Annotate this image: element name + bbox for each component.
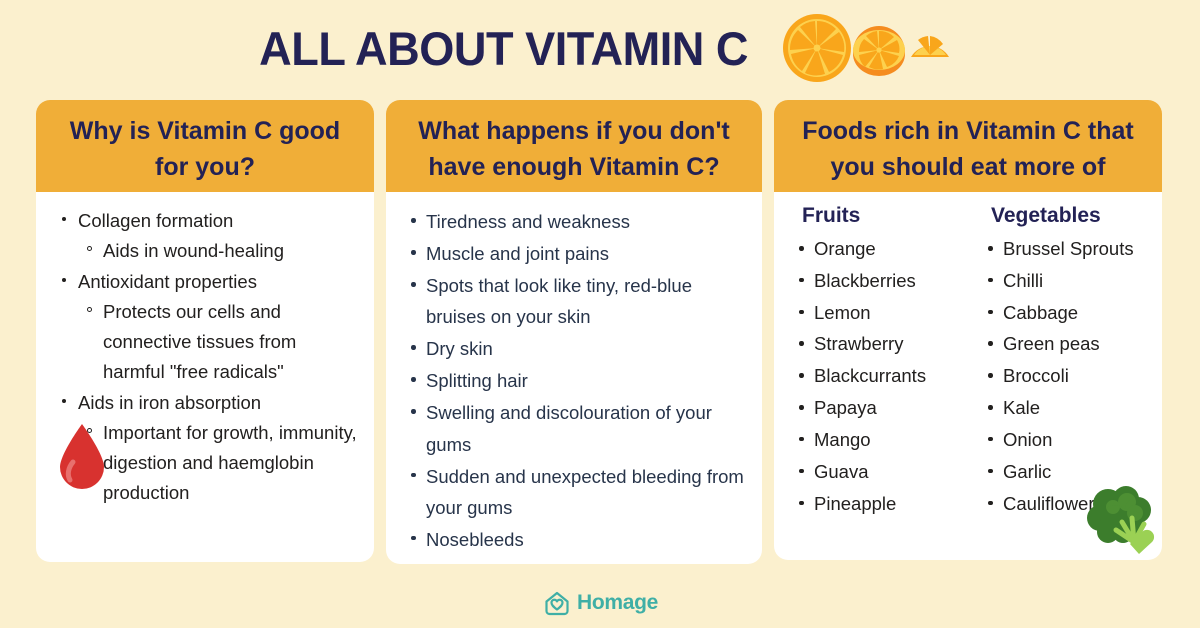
list-item-label: Mango [814, 429, 871, 450]
card-body-foods: Fruits Orange Blackberries Lemon Strawbe… [774, 192, 1162, 519]
list-item: Cabbage [981, 297, 1152, 329]
food-columns: Fruits Orange Blackberries Lemon Strawbe… [792, 204, 1152, 519]
list-item-label: Splitting hair [426, 370, 528, 391]
sub-list-item-label: Important for growth, immunity, digestio… [103, 422, 357, 503]
bullet-hollow-icon [87, 246, 92, 251]
list-item-label: Orange [814, 238, 876, 259]
list-item-label: Nosebleeds [426, 529, 524, 550]
footer-brand: Homage [0, 588, 1200, 618]
bullet-icon [799, 437, 804, 442]
vegetables-list: Brussel Sprouts Chilli Cabbage Green pea… [981, 233, 1152, 519]
sub-list-item: Aids in wound-healing [78, 236, 358, 266]
list-item-label: Muscle and joint pains [426, 243, 609, 264]
list-item-label: Blackberries [814, 270, 916, 291]
list-item-label: Cauliflower [1003, 493, 1095, 514]
bullet-icon [799, 405, 804, 410]
sub-list-item: Important for growth, immunity, digestio… [78, 418, 358, 508]
list-item: Lemon [792, 297, 963, 329]
bullet-icon [799, 278, 804, 283]
vegetables-heading: Vegetables [981, 204, 1152, 228]
list-item-label: Collagen formation [78, 210, 233, 231]
sub-list-item-label: Protects our cells and connective tissue… [103, 301, 296, 382]
list-item-label: Dry skin [426, 338, 493, 359]
list-item-label: Aids in iron absorption [78, 392, 261, 413]
page-title: ALL ABOUT VITAMIN C [260, 25, 749, 72]
bullet-icon [411, 473, 416, 478]
bullet-icon [411, 377, 416, 382]
bullet-icon [799, 469, 804, 474]
list-item-label: Tiredness and weakness [426, 211, 630, 232]
list-item: Sudden and unexpected bleeding from your… [404, 461, 748, 523]
bullet-icon [799, 373, 804, 378]
list-item: Nosebleeds [404, 524, 748, 555]
bullet-icon [799, 246, 804, 251]
bullet-icon [988, 341, 993, 346]
bullet-icon [988, 373, 993, 378]
bullet-icon [988, 278, 993, 283]
bullet-icon [411, 536, 416, 541]
list-item: Collagen formation Aids in wound-healing [54, 206, 358, 266]
bullet-icon [988, 469, 993, 474]
bullet-icon [988, 501, 993, 506]
list-item: Chilli [981, 265, 1152, 297]
list-item-label: Strawberry [814, 333, 903, 354]
list-item: Orange [792, 233, 963, 265]
list-item: Guava [792, 456, 963, 488]
list-item: Spots that look like tiny, red-blue brui… [404, 270, 748, 332]
list-item: Strawberry [792, 328, 963, 360]
list-item-label: Guava [814, 461, 869, 482]
card-deficiency: What happens if you don't have enough Vi… [386, 100, 762, 564]
cards-container: Why is Vitamin C good for you? Collagen … [36, 100, 1164, 564]
list-item-label: Brussel Sprouts [1003, 238, 1134, 259]
list-item: Brussel Sprouts [981, 233, 1152, 265]
sub-list-item-label: Aids in wound-healing [103, 240, 284, 261]
vegetables-column: Vegetables Brussel Sprouts Chilli Cabbag… [981, 204, 1152, 519]
card-title-foods: Foods rich in Vitamin C that you should … [774, 100, 1162, 192]
bullet-icon [799, 341, 804, 346]
sub-list: Important for growth, immunity, digestio… [78, 418, 358, 508]
list-item: Papaya [792, 392, 963, 424]
list-item: Pineapple [792, 488, 963, 520]
bullet-icon [62, 217, 66, 221]
list-item: Dry skin [404, 333, 748, 364]
list-item-label: Chilli [1003, 270, 1043, 291]
list-item: Muscle and joint pains [404, 238, 748, 269]
card-body-deficiency: Tiredness and weakness Muscle and joint … [386, 192, 762, 555]
fruits-list: Orange Blackberries Lemon Strawberry Bla… [792, 233, 963, 519]
list-item-label: Lemon [814, 302, 871, 323]
list-item: Green peas [981, 328, 1152, 360]
list-item: Blackcurrants [792, 360, 963, 392]
fruits-column: Fruits Orange Blackberries Lemon Strawbe… [792, 204, 963, 519]
bullet-icon [62, 399, 66, 403]
list-item: Onion [981, 424, 1152, 456]
list-item: Swelling and discolouration of your gums [404, 397, 748, 459]
sub-list: Protects our cells and connective tissue… [78, 297, 358, 387]
bullet-icon [62, 278, 66, 282]
orange-slices-icon [775, 12, 951, 84]
list-item-label: Kale [1003, 397, 1040, 418]
list-item-label: Green peas [1003, 333, 1100, 354]
card-why-good: Why is Vitamin C good for you? Collagen … [36, 100, 374, 562]
list-item: Splitting hair [404, 365, 748, 396]
bullet-icon [411, 282, 416, 287]
bullet-icon [411, 345, 416, 350]
list-item-label: Broccoli [1003, 365, 1069, 386]
card-foods: Foods rich in Vitamin C that you should … [774, 100, 1162, 560]
list-item: Kale [981, 392, 1152, 424]
list-item-label: Cabbage [1003, 302, 1078, 323]
homage-logo-icon [542, 588, 572, 618]
brand-name: Homage [577, 591, 658, 615]
broccoli-icon [1082, 482, 1160, 560]
fruits-heading: Fruits [792, 204, 963, 228]
sub-list-item: Protects our cells and connective tissue… [78, 297, 358, 387]
list-item-label: Garlic [1003, 461, 1051, 482]
list-item-label: Sudden and unexpected bleeding from your… [426, 466, 744, 518]
list-item: Mango [792, 424, 963, 456]
bullet-icon [988, 246, 993, 251]
list-item: Broccoli [981, 360, 1152, 392]
card-title-deficiency: What happens if you don't have enough Vi… [386, 100, 762, 192]
bullet-hollow-icon [87, 307, 92, 312]
symptoms-list: Tiredness and weakness Muscle and joint … [404, 206, 748, 555]
blood-drop-icon [56, 422, 108, 490]
list-item: Tiredness and weakness [404, 206, 748, 237]
bullet-icon [799, 310, 804, 315]
card-title-why-good: Why is Vitamin C good for you? [36, 100, 374, 192]
list-item-label: Onion [1003, 429, 1052, 450]
page-header: ALL ABOUT VITAMIN C [0, 0, 1200, 96]
sub-list: Aids in wound-healing [78, 236, 358, 266]
list-item-label: Pineapple [814, 493, 896, 514]
bullet-icon [411, 409, 416, 414]
bullet-icon [799, 501, 804, 506]
bullet-icon [988, 437, 993, 442]
bullet-icon [988, 405, 993, 410]
list-item: Antioxidant properties Protects our cell… [54, 267, 358, 387]
list-item-label: Spots that look like tiny, red-blue brui… [426, 275, 692, 327]
list-item-label: Blackcurrants [814, 365, 926, 386]
list-item-label: Antioxidant properties [78, 271, 257, 292]
card-body-why-good: Collagen formation Aids in wound-healing… [36, 192, 374, 508]
bullet-icon [411, 250, 416, 255]
list-item: Blackberries [792, 265, 963, 297]
list-item-label: Swelling and discolouration of your gums [426, 402, 712, 454]
list-item-label: Papaya [814, 397, 877, 418]
bullet-icon [988, 310, 993, 315]
bullet-icon [411, 218, 416, 223]
